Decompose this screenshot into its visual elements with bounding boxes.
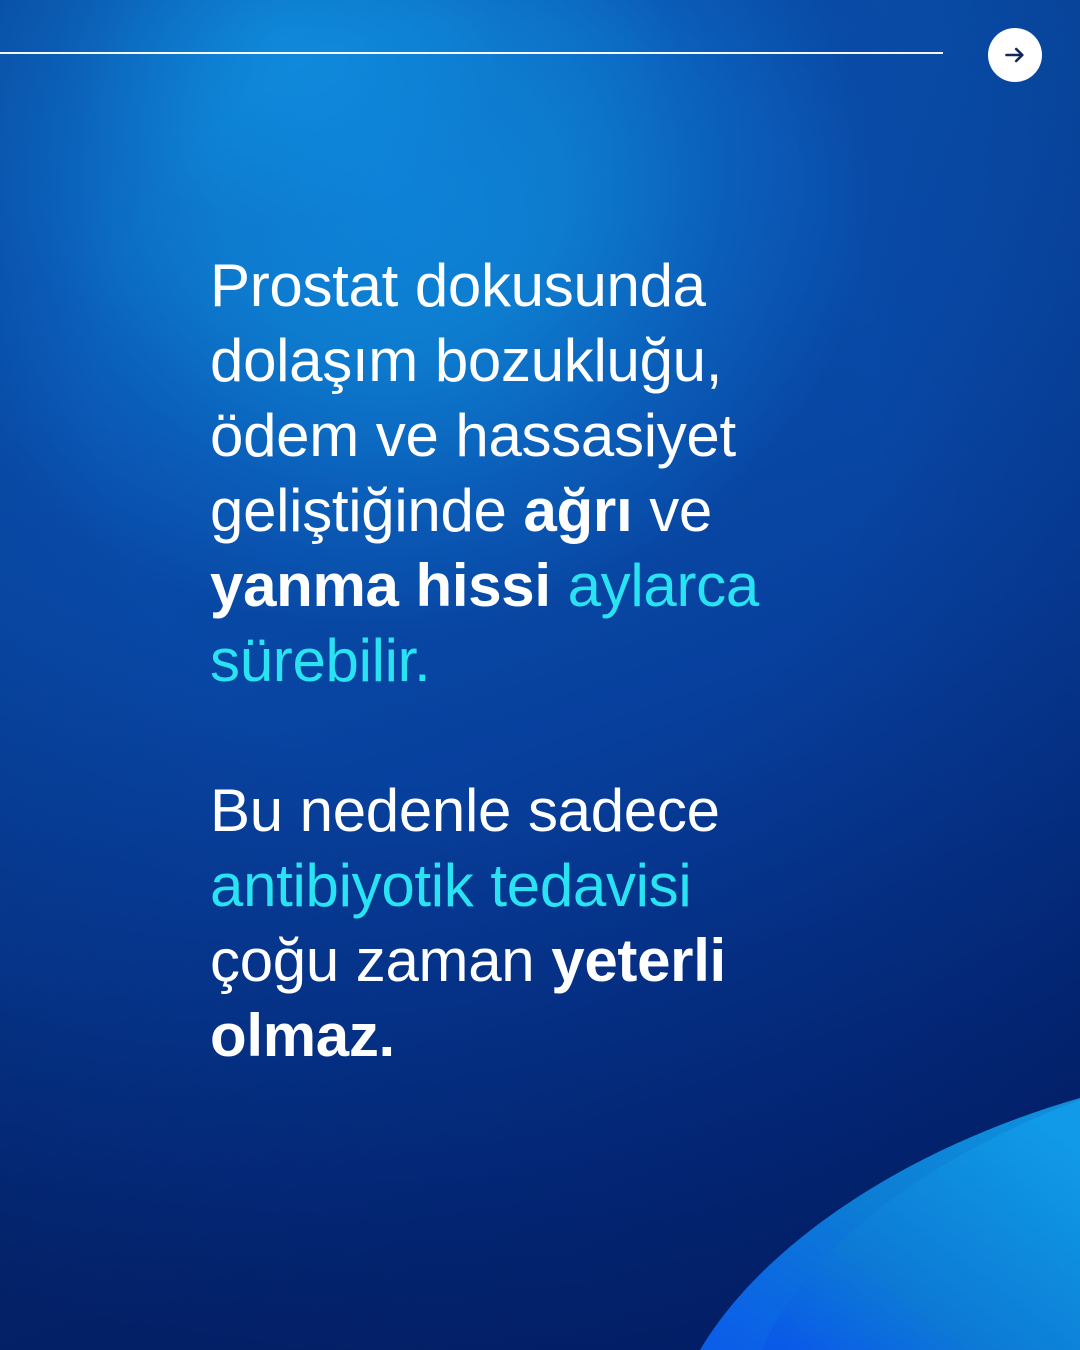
progress-rule[interactable]: [0, 52, 943, 54]
emphasis-highlight: antibiyotik tedavisi: [210, 852, 691, 919]
next-slide-button[interactable]: [988, 28, 1042, 82]
emphasis-bold: yanma hissi: [210, 552, 551, 619]
paragraph-2: Bu nedenle sadece antibiyotik tedavisi ç…: [210, 773, 790, 1073]
text-run: ve: [632, 477, 712, 544]
text-run: çoğu zaman: [210, 927, 551, 994]
arrow-right-icon: [1002, 42, 1028, 68]
emphasis-bold: ağrı: [523, 477, 632, 544]
paragraph-1: Prostat dokusunda dolaşım bozukluğu, öde…: [210, 248, 790, 698]
slide-canvas: Prostat dokusunda dolaşım bozukluğu, öde…: [0, 0, 1080, 1350]
headline-copy: Prostat dokusunda dolaşım bozukluğu, öde…: [210, 248, 790, 1073]
text-run: [551, 552, 568, 619]
text-run: Bu nedenle sadece: [210, 777, 720, 844]
